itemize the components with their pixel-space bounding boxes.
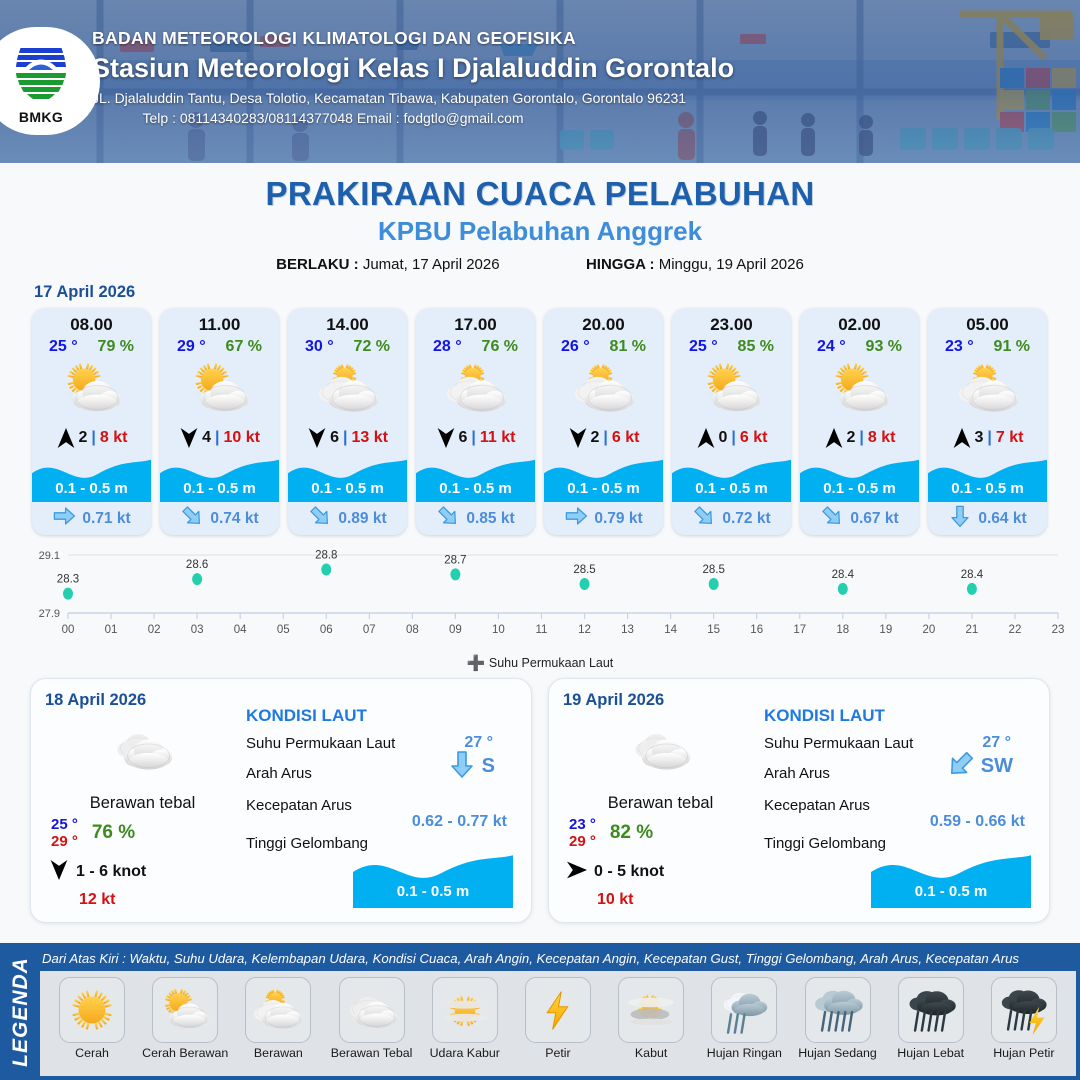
legend-item: Hujan Ringan — [698, 977, 790, 1060]
page-subtitle: KPBU Pelabuhan Anggrek — [0, 216, 1080, 247]
legend-icon-hujan-ringan — [711, 977, 777, 1043]
svg-text:29.1: 29.1 — [39, 550, 60, 562]
current-speed-value: 0.59 - 0.66 kt — [764, 813, 1035, 831]
panel-temp-max: 29 ° — [51, 833, 78, 850]
card-current-row: 0.72 kt — [672, 502, 791, 535]
card-wave-height: 0.1 - 0.5 m — [160, 480, 279, 497]
card-wind-row: 2 | 8 kt — [32, 420, 151, 456]
panel-wave-height-value: 0.1 - 0.5 m — [871, 883, 1031, 900]
title-block: PRAKIRAAN CUACA PELABUHAN KPBU Pelabuhan… — [0, 163, 1080, 273]
svg-text:07: 07 — [363, 624, 376, 636]
card-wind-row: 2 | 6 kt — [544, 420, 663, 456]
card-weather-icon — [672, 358, 791, 420]
sst-label: Suhu Permukaan Laut — [764, 735, 913, 752]
card-current-speed: 0.67 kt — [850, 510, 898, 528]
current-direction-arrow-s-icon — [948, 504, 972, 533]
card-separator: | — [215, 429, 219, 447]
card-wave-block: 0.1 - 0.5 m — [544, 454, 663, 502]
panel-temperature-range: 25 ° 29 ° — [51, 816, 78, 851]
svg-text:12: 12 — [578, 624, 591, 636]
legend-icon-hujan-lebat — [898, 977, 964, 1043]
wind-direction-arrow-s-icon — [179, 426, 199, 450]
legend-icon-cerah — [59, 977, 125, 1043]
legend-item-label: Hujan Lebat — [885, 1046, 977, 1060]
wind-direction-arrow-s-icon — [49, 858, 69, 887]
panel-wind-row: 0 - 5 knot — [563, 858, 758, 887]
svg-text:28.4: 28.4 — [832, 569, 855, 581]
card-temp-humidity-row: 28 ° 76 % — [416, 338, 535, 356]
chart-legend-label: Suhu Permukaan Laut — [489, 656, 613, 670]
chart-legend-marker-icon: ➕ — [467, 655, 486, 672]
legend-item: Cerah — [46, 977, 138, 1060]
card-wind-speed: 2 — [847, 429, 856, 447]
card-weather-icon — [32, 358, 151, 420]
card-wave-height: 0.1 - 0.5 m — [416, 480, 535, 497]
svg-text:27.9: 27.9 — [39, 608, 60, 620]
card-temp-humidity-row: 25 ° 79 % — [32, 338, 151, 356]
card-time: 11.00 — [160, 315, 279, 335]
card-wave-block: 0.1 - 0.5 m — [800, 454, 919, 502]
svg-text:23: 23 — [1052, 624, 1065, 636]
current-direction-value: S — [482, 755, 495, 778]
legend-item-label: Kabut — [605, 1046, 697, 1060]
legend-icon-petir — [525, 977, 591, 1043]
card-separator: | — [343, 429, 347, 447]
forecast-date-label: 17 April 2026 — [34, 283, 1080, 302]
legend-item-label: Udara Kabur — [419, 1046, 511, 1060]
card-air-temperature: 23 ° — [945, 338, 974, 356]
current-direction-arrow-e-icon — [52, 504, 76, 533]
card-wind-row: 4 | 10 kt — [160, 420, 279, 456]
legend-note: Dari Atas Kiri : Waktu, Suhu Udara, Kele… — [42, 951, 1074, 966]
card-wave-height: 0.1 - 0.5 m — [544, 480, 663, 497]
panel-wind-range: 1 - 6 knot — [76, 863, 146, 881]
forecast-card: 08.00 25 ° 79 % 2 | 8 kt — [32, 308, 151, 535]
card-current-row: 0.67 kt — [800, 502, 919, 535]
card-separator: | — [471, 429, 475, 447]
card-wind-speed: 6 — [330, 429, 339, 447]
panel-temperature-range: 23 ° 29 ° — [569, 816, 596, 851]
legend-item: Berawan Tebal — [326, 977, 418, 1060]
legend-item-list: Cerah Cerah Berawan — [40, 971, 1076, 1076]
panel-gust-speed: 10 kt — [563, 891, 758, 909]
card-humidity: 67 % — [226, 338, 262, 356]
card-separator: | — [731, 429, 735, 447]
svg-text:28.3: 28.3 — [57, 574, 79, 586]
card-humidity: 81 % — [610, 338, 646, 356]
panel-date: 18 April 2026 — [45, 691, 240, 710]
card-wave-height: 0.1 - 0.5 m — [672, 480, 791, 497]
card-wind-row: 6 | 11 kt — [416, 420, 535, 456]
wind-direction-arrow-s-icon — [307, 426, 327, 450]
wave-height-label: Tinggi Gelombang — [246, 835, 368, 852]
svg-text:28.8: 28.8 — [315, 550, 337, 562]
card-current-speed: 0.89 kt — [338, 510, 386, 528]
card-weather-icon — [288, 358, 407, 420]
panel-wave-height-value: 0.1 - 0.5 m — [353, 883, 513, 900]
sea-conditions-title: KONDISI LAUT — [246, 706, 517, 726]
current-direction-value-group: SW — [946, 749, 1013, 784]
sst-chart: 29.127.900010203040506070809101112131415… — [0, 541, 1080, 653]
card-current-row: 0.79 kt — [544, 502, 663, 535]
validity-row: BERLAKU : Jumat, 17 April 2026 HINGGA : … — [0, 256, 1080, 273]
valid-to-label: HINGGA : — [586, 256, 655, 273]
current-direction-label: Arah Arus — [764, 765, 830, 782]
card-air-temperature: 25 ° — [49, 338, 78, 356]
current-speed-row: Kecepatan Arus 0.62 - 0.77 kt — [246, 797, 517, 831]
card-air-temperature: 29 ° — [177, 338, 206, 356]
panel-temp-max: 29 ° — [569, 833, 596, 850]
chart-legend: ➕ Suhu Permukaan Laut — [0, 654, 1080, 672]
svg-text:03: 03 — [191, 624, 204, 636]
current-direction-value: SW — [981, 755, 1013, 778]
forecast-card: 11.00 29 ° 67 % 4 | 10 kt — [160, 308, 279, 535]
card-gust-speed: 6 kt — [740, 429, 768, 447]
agency-name: BADAN METEOROLOGI KLIMATOLOGI DAN GEOFIS… — [92, 28, 734, 49]
card-current-row: 0.71 kt — [32, 502, 151, 535]
legend-icon-cerah-berawan — [152, 977, 218, 1043]
wind-direction-arrow-e-icon — [567, 858, 587, 887]
svg-text:09: 09 — [449, 624, 462, 636]
valid-from-label: BERLAKU : — [276, 256, 359, 273]
card-separator: | — [603, 429, 607, 447]
svg-text:02: 02 — [148, 624, 161, 636]
svg-text:22: 22 — [1009, 624, 1022, 636]
svg-text:13: 13 — [621, 624, 634, 636]
station-contact: Telp : 08114340283/08114377048 Email : f… — [92, 110, 734, 126]
legend-bar: LEGENDA Dari Atas Kiri : Waktu, Suhu Uda… — [0, 943, 1080, 1080]
header-text-block: BADAN METEOROLOGI KLIMATOLOGI DAN GEOFIS… — [92, 28, 734, 126]
card-temp-humidity-row: 25 ° 85 % — [672, 338, 791, 356]
card-wind-speed: 3 — [975, 429, 984, 447]
card-humidity: 93 % — [866, 338, 902, 356]
legend-item-label: Cerah Berawan — [139, 1046, 231, 1060]
card-air-temperature: 26 ° — [561, 338, 590, 356]
forecast-card: 17.00 28 ° 76 % — [416, 308, 535, 535]
panel-temp-humidity-row: 25 ° 29 ° 76 % — [45, 816, 240, 851]
legend-icon-kabut — [618, 977, 684, 1043]
legend-item: Petir — [512, 977, 604, 1060]
wind-direction-arrow-s-icon — [436, 426, 456, 450]
svg-text:28.7: 28.7 — [444, 554, 466, 566]
current-direction-arrow-e-icon — [564, 504, 588, 533]
daily-forecast-panel: 19 April 2026 Berawan tebal 23 ° — [548, 678, 1050, 923]
card-current-row: 0.89 kt — [288, 502, 407, 535]
card-weather-icon — [544, 358, 663, 420]
card-wave-height: 0.1 - 0.5 m — [32, 480, 151, 497]
valid-to-value: Minggu, 19 April 2026 — [659, 256, 804, 273]
panel-gust-speed: 12 kt — [45, 891, 240, 909]
svg-text:01: 01 — [105, 624, 118, 636]
svg-text:20: 20 — [922, 624, 935, 636]
card-air-temperature: 24 ° — [817, 338, 846, 356]
current-direction-arrow-se-icon — [820, 504, 844, 533]
daily-panel-list: 18 April 2026 Berawan tebal 25 ° — [0, 672, 1080, 923]
card-gust-speed: 11 kt — [480, 429, 516, 447]
current-direction-label: Arah Arus — [246, 765, 312, 782]
card-air-temperature: 30 ° — [305, 338, 334, 356]
card-time: 05.00 — [928, 315, 1047, 335]
svg-text:28.5: 28.5 — [702, 564, 724, 576]
legend-icon-berawan — [245, 977, 311, 1043]
card-gust-speed: 10 kt — [223, 429, 259, 447]
card-air-temperature: 28 ° — [433, 338, 462, 356]
card-separator: | — [987, 429, 991, 447]
card-separator: | — [91, 429, 95, 447]
current-direction-arrow-se-icon — [692, 504, 716, 533]
svg-text:21: 21 — [966, 624, 979, 636]
card-current-row: 0.74 kt — [160, 502, 279, 535]
card-weather-icon — [800, 358, 919, 420]
panel-sea-conditions: KONDISI LAUT Suhu Permukaan Laut 27 ° Ar… — [758, 691, 1035, 910]
sst-label: Suhu Permukaan Laut — [246, 735, 395, 752]
card-time: 17.00 — [416, 315, 535, 335]
svg-text:08: 08 — [406, 624, 419, 636]
card-wind-speed: 4 — [202, 429, 211, 447]
legend-item-label: Hujan Sedang — [792, 1046, 884, 1060]
svg-text:28.5: 28.5 — [573, 564, 595, 576]
forecast-card: 23.00 25 ° 85 % 0 | 6 kt — [672, 308, 791, 535]
svg-text:10: 10 — [492, 624, 505, 636]
card-weather-icon — [928, 358, 1047, 420]
card-wind-row: 6 | 13 kt — [288, 420, 407, 456]
current-direction-value-group: S — [447, 749, 495, 784]
card-humidity: 72 % — [354, 338, 390, 356]
svg-text:19: 19 — [879, 624, 892, 636]
wind-direction-arrow-n-icon — [824, 426, 844, 450]
forecast-card: 14.00 30 ° 72 % — [288, 308, 407, 535]
legend-item: Berawan — [232, 977, 324, 1060]
card-temp-humidity-row: 29 ° 67 % — [160, 338, 279, 356]
station-address: JL. Djalaluddin Tantu, Desa Tolotio, Kec… — [92, 90, 734, 106]
panel-wind-row: 1 - 6 knot — [45, 858, 240, 887]
legend-item: Kabut — [605, 977, 697, 1060]
wave-height-label: Tinggi Gelombang — [764, 835, 886, 852]
panel-wave-block: 0.1 - 0.5 m — [353, 848, 513, 908]
current-direction-arrow-se-icon — [180, 504, 204, 533]
card-wave-block: 0.1 - 0.5 m — [32, 454, 151, 502]
page-header: BMKG BADAN METEOROLOGI KLIMATOLOGI DAN G… — [0, 0, 1080, 163]
valid-from-value: Jumat, 17 April 2026 — [363, 256, 500, 273]
forecast-card: 20.00 26 ° 81 % — [544, 308, 663, 535]
legend-item-label: Petir — [512, 1046, 604, 1060]
legend-item: Hujan Lebat — [885, 977, 977, 1060]
card-current-speed: 0.64 kt — [978, 510, 1026, 528]
panel-wave-block: 0.1 - 0.5 m — [871, 848, 1031, 908]
legend-icon-hujan-petir — [991, 977, 1057, 1043]
card-time: 23.00 — [672, 315, 791, 335]
card-humidity: 76 % — [482, 338, 518, 356]
card-temp-humidity-row: 30 ° 72 % — [288, 338, 407, 356]
svg-text:28.4: 28.4 — [961, 569, 984, 581]
panel-date: 19 April 2026 — [563, 691, 758, 710]
card-wave-block: 0.1 - 0.5 m — [928, 454, 1047, 502]
panel-wind-range: 0 - 5 knot — [594, 863, 664, 881]
card-time: 20.00 — [544, 315, 663, 335]
card-humidity: 91 % — [994, 338, 1030, 356]
card-humidity: 85 % — [738, 338, 774, 356]
panel-weather-icon — [45, 718, 240, 780]
current-speed-label: Kecepatan Arus — [246, 797, 352, 814]
panel-temp-min: 25 ° — [51, 816, 78, 833]
legend-item: Hujan Petir — [978, 977, 1070, 1060]
legend-item-label: Hujan Ringan — [698, 1046, 790, 1060]
card-time: 14.00 — [288, 315, 407, 335]
card-wave-block: 0.1 - 0.5 m — [416, 454, 535, 502]
card-wave-height: 0.1 - 0.5 m — [288, 480, 407, 497]
card-wave-height: 0.1 - 0.5 m — [928, 480, 1047, 497]
legend-item: Cerah Berawan — [139, 977, 231, 1060]
svg-text:05: 05 — [277, 624, 290, 636]
wind-direction-arrow-n-icon — [952, 426, 972, 450]
card-wave-block: 0.1 - 0.5 m — [160, 454, 279, 502]
legend-item-label: Berawan — [232, 1046, 324, 1060]
card-current-speed: 0.74 kt — [210, 510, 258, 528]
panel-left-column: 19 April 2026 Berawan tebal 23 ° — [563, 691, 758, 910]
svg-text:17: 17 — [793, 624, 806, 636]
card-temp-humidity-row: 23 ° 91 % — [928, 338, 1047, 356]
current-direction-arrow-se-icon — [308, 504, 332, 533]
card-wind-row: 0 | 6 kt — [672, 420, 791, 456]
panel-sea-conditions: KONDISI LAUT Suhu Permukaan Laut 27 ° Ar… — [240, 691, 517, 910]
card-temp-humidity-row: 24 ° 93 % — [800, 338, 919, 356]
station-name: Stasiun Meteorologi Kelas I Djalaluddin … — [92, 53, 734, 84]
card-wind-speed: 6 — [459, 429, 468, 447]
card-wind-speed: 2 — [591, 429, 600, 447]
card-current-speed: 0.71 kt — [82, 510, 130, 528]
panel-humidity: 76 % — [92, 822, 135, 844]
card-time: 08.00 — [32, 315, 151, 335]
wind-direction-arrow-n-icon — [56, 426, 76, 450]
card-gust-speed: 13 kt — [351, 429, 387, 447]
panel-weather-icon — [563, 718, 758, 780]
card-wind-row: 3 | 7 kt — [928, 420, 1047, 456]
current-direction-arrow-se-icon — [436, 504, 460, 533]
card-temp-humidity-row: 26 ° 81 % — [544, 338, 663, 356]
legend-item-label: Hujan Petir — [978, 1046, 1070, 1060]
legend-side-label: LEGENDA — [4, 943, 38, 1080]
card-gust-speed: 8 kt — [868, 429, 896, 447]
legend-item: Hujan Sedang — [792, 977, 884, 1060]
card-current-row: 0.64 kt — [928, 502, 1047, 535]
legend-item-label: Cerah — [46, 1046, 138, 1060]
card-wave-height: 0.1 - 0.5 m — [800, 480, 919, 497]
page-title: PRAKIRAAN CUACA PELABUHAN — [0, 175, 1080, 213]
forecast-card: 02.00 24 ° 93 % 2 | 8 kt — [800, 308, 919, 535]
current-speed-label: Kecepatan Arus — [764, 797, 870, 814]
card-current-row: 0.85 kt — [416, 502, 535, 535]
legend-item-label: Berawan Tebal — [326, 1046, 418, 1060]
svg-text:04: 04 — [234, 624, 247, 636]
panel-temp-humidity-row: 23 ° 29 ° 82 % — [563, 816, 758, 851]
sea-conditions-title: KONDISI LAUT — [764, 706, 1035, 726]
current-speed-value: 0.62 - 0.77 kt — [246, 813, 517, 831]
panel-temp-min: 23 ° — [569, 816, 596, 833]
current-direction-arrow-s-icon — [447, 749, 477, 784]
card-wave-block: 0.1 - 0.5 m — [288, 454, 407, 502]
current-speed-row: Kecepatan Arus 0.59 - 0.66 kt — [764, 797, 1035, 831]
panel-left-column: 18 April 2026 Berawan tebal 25 ° — [45, 691, 240, 910]
panel-condition-text: Berawan tebal — [45, 794, 240, 813]
svg-text:18: 18 — [836, 624, 849, 636]
svg-text:11: 11 — [536, 624, 548, 636]
sst-chart-svg: 29.127.900010203040506070809101112131415… — [0, 541, 1080, 641]
card-gust-speed: 7 kt — [996, 429, 1024, 447]
legend-icon-udara-kabur — [432, 977, 498, 1043]
card-current-speed: 0.79 kt — [594, 510, 642, 528]
card-weather-icon — [416, 358, 535, 420]
svg-text:06: 06 — [320, 624, 333, 636]
forecast-card-list: 08.00 25 ° 79 % 2 | 8 kt — [0, 302, 1080, 535]
bmkg-logo-text: BMKG — [5, 109, 77, 125]
bmkg-logo-mark — [5, 37, 77, 109]
panel-humidity: 82 % — [610, 822, 653, 844]
current-direction-arrow-sw-icon — [946, 749, 976, 784]
card-weather-icon — [160, 358, 279, 420]
card-time: 02.00 — [800, 315, 919, 335]
card-separator: | — [859, 429, 863, 447]
card-wind-row: 2 | 8 kt — [800, 420, 919, 456]
card-wind-speed: 0 — [719, 429, 728, 447]
panel-condition-text: Berawan tebal — [563, 794, 758, 813]
daily-forecast-panel: 18 April 2026 Berawan tebal 25 ° — [30, 678, 532, 923]
card-gust-speed: 6 kt — [612, 429, 640, 447]
card-current-speed: 0.85 kt — [466, 510, 514, 528]
wind-direction-arrow-s-icon — [568, 426, 588, 450]
svg-text:14: 14 — [664, 624, 677, 636]
svg-text:00: 00 — [62, 624, 75, 636]
forecast-card: 05.00 23 ° 91 % — [928, 308, 1047, 535]
legend-icon-hujan-sedang — [805, 977, 871, 1043]
svg-text:15: 15 — [707, 624, 720, 636]
wind-direction-arrow-n-icon — [696, 426, 716, 450]
svg-text:16: 16 — [750, 624, 763, 636]
card-air-temperature: 25 ° — [689, 338, 718, 356]
svg-text:28.6: 28.6 — [186, 559, 208, 571]
legend-icon-berawan-tebal — [339, 977, 405, 1043]
card-wind-speed: 2 — [79, 429, 88, 447]
card-humidity: 79 % — [98, 338, 134, 356]
card-wave-block: 0.1 - 0.5 m — [672, 454, 791, 502]
card-current-speed: 0.72 kt — [722, 510, 770, 528]
card-gust-speed: 8 kt — [100, 429, 128, 447]
legend-item: Udara Kabur — [419, 977, 511, 1060]
